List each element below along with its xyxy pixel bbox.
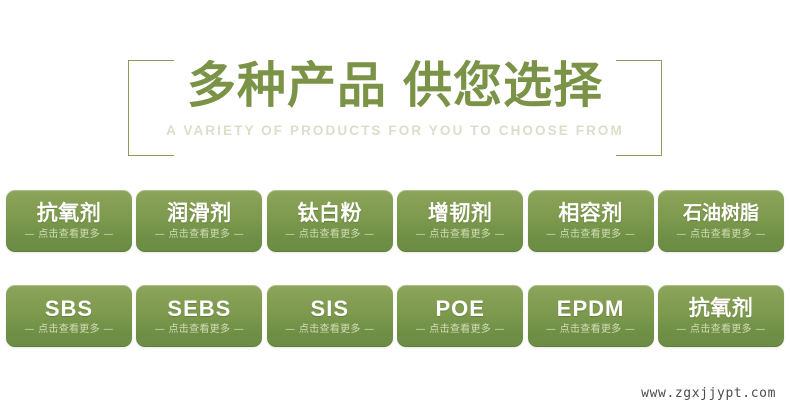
product-button-label: 抗氧剂 [689,296,754,321]
product-button-more-label: — 点击查看更多 — [24,324,113,336]
product-button-label: 增韧剂 [428,201,493,226]
product-button-sis[interactable]: SIS — 点击查看更多 — [267,285,393,347]
product-button-more-label: — 点击查看更多 — [285,229,374,241]
product-button-epdm[interactable]: EPDM — 点击查看更多 — [528,285,654,347]
product-button-label: POE [435,296,484,321]
product-row-2: SBS — 点击查看更多 — SEBS — 点击查看更多 — SIS — 点击查… [6,285,784,347]
product-button-more-label: — 点击查看更多 — [155,229,244,241]
product-button-more-label: — 点击查看更多 — [676,324,765,336]
site-watermark: www.zgxjjypt.com [641,386,776,401]
product-button-runhuaji[interactable]: 润滑剂 — 点击查看更多 — [136,190,262,252]
product-button-more-label: — 点击查看更多 — [676,229,765,241]
product-button-more-label: — 点击查看更多 — [546,229,635,241]
product-button-label: 抗氧剂 [37,201,102,226]
product-button-poe[interactable]: POE — 点击查看更多 — [397,285,523,347]
product-button-more-label: — 点击查看更多 — [415,324,504,336]
product-button-more-label: — 点击查看更多 — [24,229,113,241]
product-button-label: 润滑剂 [167,201,232,226]
page-subtitle: A VARIETY OF PRODUCTS FOR YOU TO CHOOSE … [0,123,790,138]
product-button-sbs[interactable]: SBS — 点击查看更多 — [6,285,132,347]
product-button-label: 钛白粉 [298,201,363,226]
product-button-label: SEBS [167,296,231,321]
product-row-1: 抗氧剂 — 点击查看更多 — 润滑剂 — 点击查看更多 — 钛白粉 — 点击查看… [6,190,784,252]
product-button-kangyangji[interactable]: 抗氧剂 — 点击查看更多 — [6,190,132,252]
product-button-shiyoushuzhi[interactable]: 石油树脂 — 点击查看更多 — [658,190,784,252]
product-button-zengrenji[interactable]: 增韧剂 — 点击查看更多 — [397,190,523,252]
product-button-xiangrongji[interactable]: 相容剂 — 点击查看更多 — [528,190,654,252]
page-title-part-one: 多种产品 [187,57,387,114]
page-title-part-two: 供您选择 [403,57,603,114]
product-button-label: 相容剂 [558,201,623,226]
product-button-more-label: — 点击查看更多 — [546,324,635,336]
product-button-kangyangji-2[interactable]: 抗氧剂 — 点击查看更多 — [658,285,784,347]
product-button-label: EPDM [557,296,625,321]
product-button-grid: 抗氧剂 — 点击查看更多 — 润滑剂 — 点击查看更多 — 钛白粉 — 点击查看… [6,190,784,347]
title-block: 多种产品供您选择 A VARIETY OF PRODUCTS FOR YOU T… [0,56,790,138]
product-button-more-label: — 点击查看更多 — [285,324,374,336]
product-button-sebs[interactable]: SEBS — 点击查看更多 — [136,285,262,347]
page-header: 多种产品供您选择 A VARIETY OF PRODUCTS FOR YOU T… [0,0,790,175]
product-button-label: SBS [45,296,93,321]
product-button-taibaifen[interactable]: 钛白粉 — 点击查看更多 — [267,190,393,252]
product-button-more-label: — 点击查看更多 — [415,229,504,241]
page-title: 多种产品供您选择 [0,56,790,116]
product-button-label: SIS [311,296,349,321]
product-button-label: 石油树脂 [683,201,759,226]
product-button-more-label: — 点击查看更多 — [155,324,244,336]
